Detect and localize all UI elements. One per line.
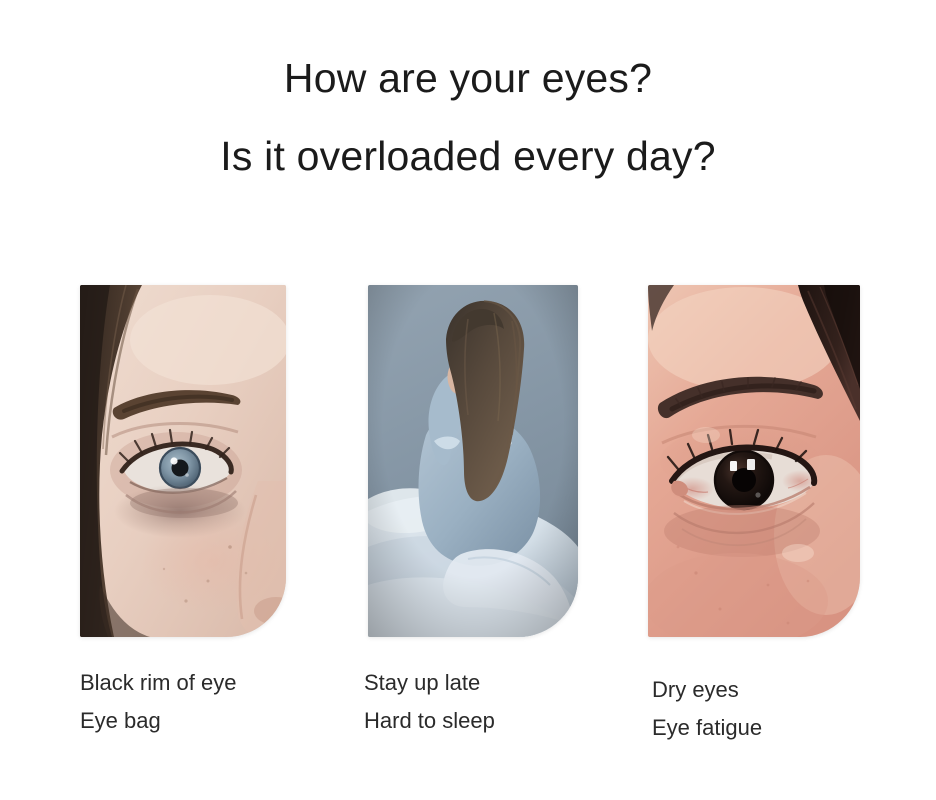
symptom-card-dark-circles[interactable] [80, 285, 286, 637]
symptom-card-dry-eyes[interactable] [648, 285, 860, 637]
headline-line-2: Is it overloaded every day? [0, 136, 936, 177]
photo-dark-circles [80, 285, 286, 637]
caption-insomnia-line-1: Stay up late [364, 672, 495, 694]
symptom-card-insomnia[interactable] [368, 285, 578, 637]
caption-dark-circles: Black rim of eye Eye bag [80, 672, 237, 732]
photo-dry-eyes [648, 285, 860, 637]
caption-dark-circles-line-1: Black rim of eye [80, 672, 237, 694]
caption-dry-eyes-line-2: Eye fatigue [652, 717, 762, 739]
product-detail-page: How are your eyes? Is it overloaded ever… [0, 0, 936, 800]
headline-line-1: How are your eyes? [0, 58, 936, 99]
caption-insomnia: Stay up late Hard to sleep [364, 672, 495, 732]
symptom-caption-row: Black rim of eye Eye bag Stay up late Ha… [0, 672, 936, 762]
caption-dry-eyes: Dry eyes Eye fatigue [652, 679, 762, 739]
photo-insomnia [368, 285, 578, 637]
caption-insomnia-line-2: Hard to sleep [364, 710, 495, 732]
caption-dry-eyes-line-1: Dry eyes [652, 679, 762, 701]
caption-dark-circles-line-2: Eye bag [80, 710, 237, 732]
symptom-card-row [80, 285, 860, 640]
page-headline: How are your eyes? Is it overloaded ever… [0, 58, 936, 177]
